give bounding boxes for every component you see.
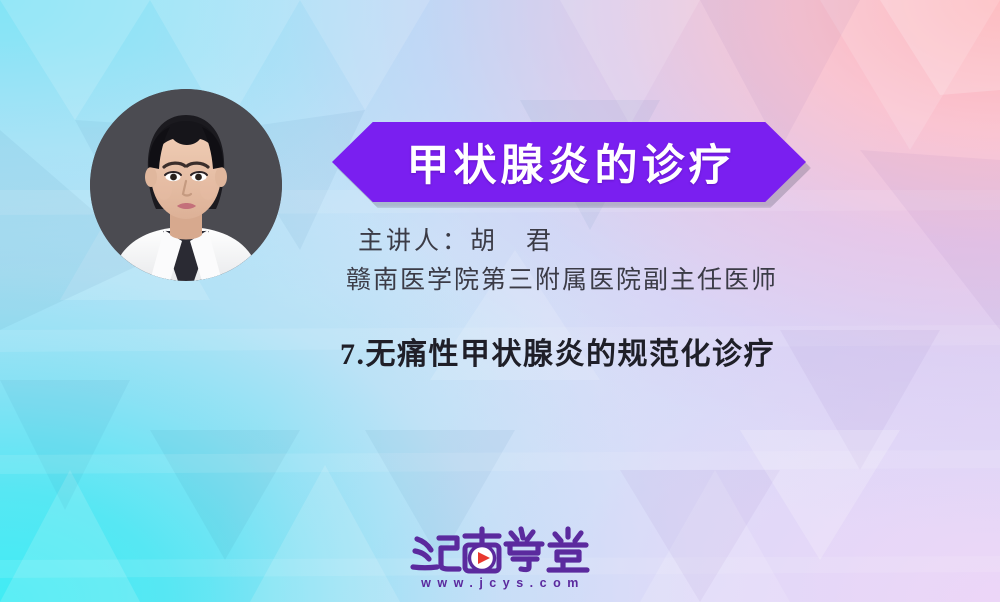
title-slide: 甲状腺炎的诊疗 主讲人：胡 君 赣南医学院第三附属医院副主任医师 7.无痛性甲状… bbox=[0, 0, 1000, 602]
brand-logo-mark bbox=[407, 523, 593, 575]
presenter-block: 主讲人：胡 君 赣南医学院第三附属医院副主任医师 bbox=[358, 222, 778, 300]
brand-url: www.jcys.com bbox=[415, 576, 585, 590]
footer-logo: www.jcys.com bbox=[0, 523, 1000, 590]
topic-line: 7.无痛性甲状腺炎的规范化诊疗 bbox=[340, 329, 775, 373]
presenter-name-line: 主讲人：胡 君 bbox=[358, 222, 778, 260]
portrait-illustration bbox=[90, 89, 282, 281]
brand-wordmark-icon bbox=[407, 523, 593, 575]
background-gradient bbox=[0, 0, 1000, 602]
presenter-avatar bbox=[90, 89, 282, 281]
slide-title: 甲状腺炎的诊疗 bbox=[332, 122, 806, 202]
presenter-affiliation-line: 赣南医学院第三附属医院副主任医师 bbox=[346, 260, 778, 300]
title-banner: 甲状腺炎的诊疗 bbox=[332, 122, 806, 202]
